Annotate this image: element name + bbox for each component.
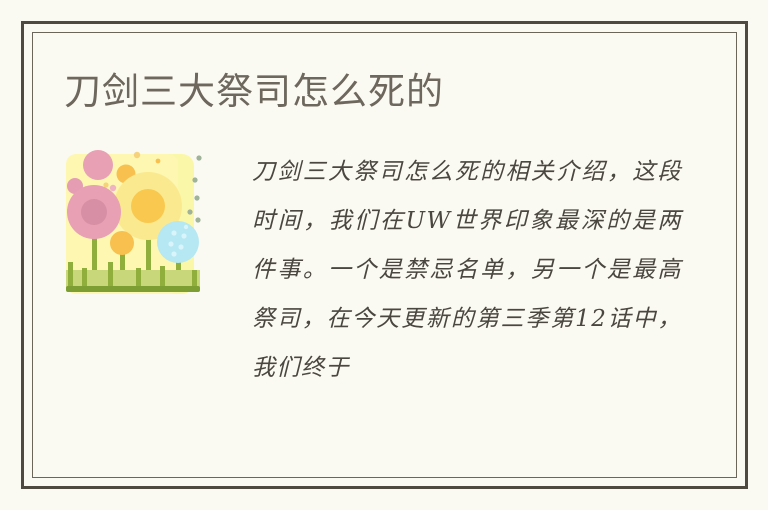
article-card-content: 刀剑三大祭司怎么死的 (24, 24, 745, 486)
flower-garden-illustration (64, 150, 212, 298)
article-body-text: 刀剑三大祭司怎么死的相关介绍，这段时间，我们在UW世界印象最深的是两件事。一个是… (252, 148, 682, 393)
article-thumbnail[interactable] (64, 150, 212, 298)
page-title: 刀剑三大祭司怎么死的 (64, 69, 444, 115)
article-card-frame: 刀剑三大祭司怎么死的 (21, 21, 748, 489)
article-body-area: 刀剑三大祭司怎么死的相关介绍，这段时间，我们在UW世界印象最深的是两件事。一个是… (64, 150, 711, 466)
